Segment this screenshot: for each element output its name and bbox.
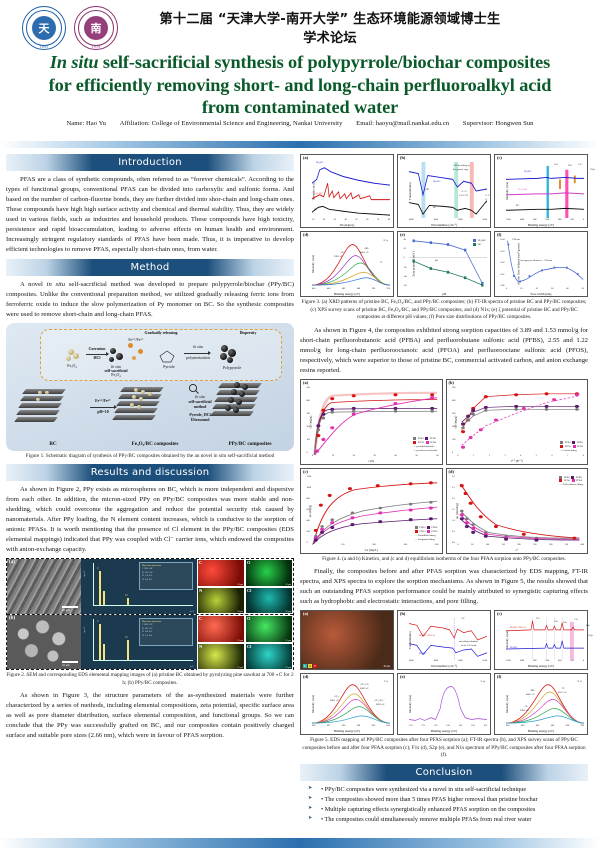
fig3c-panel-tag: (c) [497, 155, 502, 160]
figure1-caption: Figure 1. Schematic diagram of synthesis… [6, 453, 294, 461]
chart-fig3d-n1s: (d) Intensity (cps) Binding energy (eV) … [300, 231, 394, 297]
author-supervisor: Supervisor: Hongwen Sun [463, 120, 534, 127]
results-paragraph-fig5: Finally, the composites before and after… [300, 567, 588, 607]
section-header-results: Results and discussion [6, 464, 294, 481]
eds-legend-a: Map Sum Spectrum C 82.4 0.8 O 12.1 0.6 N… [139, 562, 193, 590]
figure2-row-a: (a) 20 μm C Cl cps/eV keV Map Sum Spect [7, 559, 293, 614]
schematic-arrow-corrosion [86, 354, 108, 355]
schematic-fe3o4-particle [73, 353, 79, 359]
section-header-method: Method [6, 259, 294, 276]
fig5d-panel-tag: (d) [303, 674, 308, 679]
fig5f-traces [506, 681, 584, 725]
schematic-label-corrosion: Corrosion [84, 347, 110, 352]
figure2-scalebar-a: 20 μm [62, 606, 78, 612]
poster-root: 天 1895 南 1919 第十二届 “天津大学-南开大学” 生态环境能源领域博… [0, 0, 600, 848]
figure4-row1: (a) Qt (mg/g) t (h) 0102030405060 500400… [300, 379, 588, 465]
eds-x-label-b: keV [190, 665, 194, 668]
fig5f-panel-tag: (f) [497, 674, 501, 679]
schematic-polypyrrole-sphere [228, 349, 236, 357]
fig3a-xlabel: 2θ (degree) [301, 223, 393, 227]
schematic-corroded-particle [116, 353, 123, 360]
eds-x-label-a: keV [190, 610, 194, 613]
eds-map-cl-b: Cl10 μm [245, 643, 293, 671]
schematic-bc-stack [22, 389, 92, 433]
conclusion-item-1: • PPy/BC composites were synthesized via… [308, 785, 584, 795]
fig5d-xlabel: Binding energy (eV) [301, 729, 393, 733]
logo-group: 天 1895 南 1919 [22, 6, 118, 50]
schematic-ppybc-stack [218, 383, 288, 429]
fig5e-traces [409, 681, 487, 725]
schematic-label-fe-ion: Fe³⁺/Fe²⁺ [124, 338, 148, 343]
sem-image-ppybc: (b) 10 μm [7, 615, 81, 669]
schematic-label-selfsac-3: self-sacrificial [182, 400, 218, 405]
poster-title-rest: self-sacrificial synthesis of polypyrrol… [98, 52, 550, 72]
figure3-row2: (d) Intensity (cps) Binding energy (eV) … [300, 231, 588, 297]
fig4a-yticks: 5004003002001000 [307, 387, 310, 455]
right-column: (a) Intensity (a.u.) 2θ (degree) 1020304… [300, 150, 588, 825]
fig4a-xlabel: t (h) [301, 459, 442, 463]
figure3-row1: (a) Intensity (a.u.) 2θ (degree) 1020304… [300, 154, 588, 228]
fig4d-legend: PFBA PFBS PFOA PFOS — D-R isotherm fitti… [559, 476, 583, 488]
fig3f-xticks: 01020304050 [506, 288, 584, 290]
conclusion-item-2: • The composites showed more than 5 time… [308, 795, 584, 805]
fig3f-yticks: 0.040.030.020.010.00 [501, 239, 505, 287]
poster-columns: Introduction PFAS are a class of synthet… [0, 150, 600, 825]
eds-y-label-b: cps/eV [83, 627, 86, 634]
nankai-university-logo: 南 1919 [74, 6, 118, 50]
conclusion-list-wrap: • PPy/BC composites were synthesized via… [300, 785, 588, 825]
fig4c-panel-tag: (c) [303, 469, 308, 474]
section-title-conclusion: Conclusion [416, 767, 473, 778]
tianjin-university-logo: 天 1895 [22, 6, 66, 50]
fig4b-xlabel: t¹ᐟ² (h¹ᐟ²) [447, 459, 588, 463]
fig3b-traces [409, 162, 487, 218]
figure2-panel: (a) 20 μm C Cl cps/eV keV Map Sum Spect [6, 558, 294, 670]
chart-fig3f-pore: (f) dV/dw Pore Volume (cm³/g·nm) Pore wi… [494, 231, 588, 297]
conference-title-cn-line2: 学术论坛 [120, 30, 540, 49]
method-paragraph: A novel in situ self-sacrificial method … [6, 280, 294, 320]
fig3b-xticks: 4000300020001000 [409, 219, 487, 221]
schematic-label-ultrasound: Ultrasound [178, 418, 222, 423]
fig3f-xlabel: Pore width (nm) [495, 292, 587, 296]
fig5c-panel-tag: (c) [497, 611, 502, 616]
poster-title-line2: for efficiently removing short- and long… [10, 74, 590, 96]
schematic-label-insitu-3: In situ [182, 395, 218, 400]
eds-legend-b: Map Sum Spectrum C 68.3 0.9 O 16.2 0.7 N… [139, 618, 193, 646]
conclusion-item-4: • The composites could simultaneously re… [308, 815, 584, 825]
figure2-caption: Figure 2. SEM and corresponding EDS elem… [6, 672, 294, 687]
conclusion-item-3: • Multiple capturing effects synergistic… [308, 805, 584, 815]
fig3b-xlabel: Wavenumber (cm⁻¹) [398, 223, 490, 227]
fig5d-xticks: 694692690688686684 [312, 725, 390, 727]
fig4b-yticks: 5004003002001000 [452, 387, 455, 455]
chart-fig4c-isotherm: (c) qe (mg/g) Ce (mg/L) 0150300450600 12… [300, 468, 443, 554]
chart-fig5b-ftir: (b) Transmittance Wavenumber (cm⁻¹) 4000… [397, 610, 491, 670]
schematic-label-fe3o4: Fe₃O₄ [58, 364, 86, 369]
magnifier-icon [188, 383, 200, 395]
chart-fig4a-kinetics: (a) Qt (mg/g) t (h) 0102030405060 500400… [300, 379, 443, 465]
schematic-label-hcl: HCl [84, 356, 110, 361]
schematic-fe-ion [132, 356, 136, 360]
figure5-row1: (a) C O F 10 μm (b) Transmittance Wavenu… [300, 610, 588, 670]
chart-fig5f-n1s: (f) Intensity (cps) Binding energy (eV) … [494, 673, 588, 735]
section-header-introduction: Introduction [6, 154, 294, 171]
chart-fig4d-dr: (d) qe (mmol/g) ε² 050100150200250300350… [446, 468, 589, 554]
chart-fig5c-xps: (c) Intensity (cps) Binding energy (eV) … [494, 610, 588, 670]
fig3e-panel-tag: (e) [400, 232, 405, 237]
schematic-caption-bc: BC [30, 441, 76, 447]
schematic-corroded-particle [109, 357, 114, 362]
fig4d-xticks: 050100150200250300350400 [458, 544, 585, 546]
schematic-arrow-fe [90, 407, 116, 408]
introduction-paragraph: PFAS are a class of synthetic compounds,… [6, 175, 294, 255]
fig5c-xticks: 120010008006004002000 [506, 660, 584, 662]
fig4c-yticks: 120010008006004002000 [307, 476, 312, 544]
fig4b-xticks: 012345678 [458, 455, 585, 457]
fig5c-xlabel: Binding energy (eV) [495, 664, 587, 668]
poster-title-line3: from contaminated water [10, 96, 590, 118]
chart-fig3b-ftir: (b) Transmittance Wavenumber (cm⁻¹) 4000… [397, 154, 491, 228]
fig3e-xlabel: pH [398, 292, 490, 296]
fig4a-legend: PFBA PFBS PFOA PFOS — pseudo-first-order… [413, 437, 437, 453]
fig5e-xlabel: Binding energy (eV) [398, 729, 490, 733]
eds-map-c-a: C20 μm [197, 559, 245, 587]
fig4c-legend: PFBA PFBS PFOA PFOS — Freundlich fitting… [415, 526, 438, 542]
eds-maps-b: C10 μm O10 μm N10 μm Cl10 μm [197, 615, 293, 669]
fig5e-xticks: 174172170168166164162 [409, 725, 487, 727]
eds-map-n-a: N20 μm [197, 587, 245, 615]
schematic-label-polypyrrole: Polypyrrole [211, 366, 253, 371]
fig5b-xticks: 4000300020001000 [409, 660, 487, 662]
method-text-italic: in situ [47, 281, 65, 288]
figure5-row2: (d) Intensity (cps) Binding energy (eV) … [300, 673, 588, 735]
chart-fig3e-zeta: (e) Zeta potential (mV) pH 40200-20-40-6… [397, 231, 491, 297]
schematic-corroded-particle [110, 348, 116, 354]
author-affiliation: Affiliation: College of Environmental Sc… [120, 120, 343, 127]
schematic-label-insitu-2: In situ [182, 345, 214, 350]
method-text-a: A novel [20, 281, 47, 288]
chart-fig5e-s2p: (e) Intensity (cps) Binding energy (eV) … [397, 673, 491, 735]
schematic-label-polymerization: polymerization [182, 356, 214, 361]
fig3c-xlabel: Binding energy (eV) [495, 223, 587, 227]
results-paragraph-fig2: As shown in Figure 2, PPy exists as micr… [6, 485, 294, 555]
fig4c-xlabel: Ce (mg/L) [301, 548, 442, 552]
sem-image-pristine-bc: (a) 20 μm [7, 559, 81, 614]
figure4-caption: Figure 4. (a and b) Kinetics, and (c and… [300, 556, 588, 564]
fig3a-xticks: 1020304050607080 [312, 219, 390, 221]
logo-right-year: 1919 [74, 44, 118, 49]
eds-map-c-b: C10 μm [197, 615, 245, 643]
schematic-polypyrrole-sphere [221, 345, 228, 352]
fig3b-panel-tag: (b) [400, 155, 405, 160]
fig3d-traces [312, 239, 390, 287]
fig5b-xlabel: Wavenumber (cm⁻¹) [398, 664, 490, 668]
footer-divider [0, 838, 600, 848]
pyrrole-ring-icon [158, 349, 176, 363]
fig4a-panel-tag: (a) [303, 380, 308, 385]
fig5b-panel-tag: (b) [400, 611, 405, 616]
schematic-label-releasing: Gradually releasing [126, 331, 196, 336]
fig5c-traces [506, 618, 584, 660]
figure4-row2: (c) qe (mg/g) Ce (mg/L) 0150300450600 12… [300, 468, 588, 554]
figure3-caption: Figure 3. (a) XRD patterns of pristine B… [300, 299, 588, 322]
section-header-conclusion: Conclusion [300, 764, 588, 781]
figure2-panel-b-tag: (b) [9, 616, 15, 621]
chart-fig3a-xrd: (a) Intensity (a.u.) 2θ (degree) 1020304… [300, 154, 394, 228]
schematic-caption-fe3o4bc: Fe₃O₄/BC composites [116, 441, 194, 447]
schematic-fe-ion [128, 343, 133, 348]
figure2-panel-a-tag: (a) [9, 560, 15, 565]
fig4d-panel-tag: (d) [449, 469, 454, 474]
eds-spectrum-a: C Cl cps/eV keV Map Sum Spectrum C 82.4 … [81, 559, 197, 614]
fig3d-panel-tag: (d) [303, 232, 308, 237]
poster-title-italic: In situ [50, 52, 99, 72]
chart-fig4b-intraparticle: (b) Qt (mg/g) t¹ᐟ² (h¹ᐟ²) 012345678 5004… [446, 379, 589, 465]
left-column: Introduction PFAS are a class of synthet… [6, 150, 294, 825]
schematic-fe-ion [138, 349, 143, 354]
header-divider [0, 141, 600, 148]
schematic-fe3o4bc-stack [120, 387, 190, 431]
fig3f-panel-tag: (f) [497, 232, 501, 237]
figure5-caption: Figure 5. EDS mapping of PPy/BC composit… [300, 737, 588, 760]
author-email: Email: haoyu@mail.nankai.edu.cn [356, 120, 449, 127]
eds-map-o-a: O20 μm [245, 559, 293, 587]
fig5f-xticks: 406404402400398396 [506, 725, 584, 727]
fig4c-xticks: 0150300450600 [312, 544, 439, 546]
fig3f-traces [506, 239, 584, 287]
section-title-method: Method [130, 262, 169, 273]
figure1-schematic: Gradually releasing Dispersity Fe₃O₄ Cor… [6, 323, 294, 451]
conference-title-cn-line1: 第十二届 “天津大学-南开大学” 生态环境能源领域博士生 [120, 11, 540, 30]
schematic-label-fe3o4-2: Fe₃O₄ [104, 373, 128, 378]
author-name: Name: Hao Yu [66, 120, 106, 127]
fig4d-yticks: 3.02.52.01.51.00.50.0 [452, 476, 455, 544]
conclusion-list: • PPy/BC composites were synthesized via… [300, 785, 588, 825]
fig3d-xticks: 406404402400398396 [312, 288, 390, 290]
logo-left-year: 1895 [22, 44, 66, 49]
eds-y-label-a: cps/eV [83, 571, 86, 578]
chart-fig5d-f1s: (d) Intensity (cps) Binding energy (eV) … [300, 673, 394, 735]
fig3e-legend: PPy/BC BC [473, 239, 486, 247]
poster-title: In situ self-sacrificial synthesis of po… [0, 51, 600, 118]
schematic-polypyrrole-sphere [227, 357, 233, 363]
eds-map-n-b: N10 μm [197, 643, 245, 671]
fig5a-element-chips: C O F [303, 664, 317, 668]
schematic-label-fe-ions: Fe³⁺/Fe²⁺ [86, 399, 120, 404]
fig5a-panel-tag: (a) [303, 611, 308, 616]
fig5f-xlabel: Binding energy (eV) [495, 729, 587, 733]
eds-spectrum-b: C Cl cps/eV keV Map Sum Spectrum C 68.3 … [81, 615, 197, 669]
fig3e-yticks: 40200-20-40-60 [404, 239, 407, 287]
eds-map-o-b: O10 μm [245, 615, 293, 643]
schematic-caption-ppybc: PPy/BC composites [212, 441, 288, 447]
schematic-arrow-polymerization [184, 353, 210, 354]
fig4b-legend: PFBA PFBS PFOA PFOS --- Linear fitting [560, 441, 583, 453]
eds-maps-a: C20 μm O20 μm N20 μm Cl20 μm [197, 559, 293, 614]
fig4b-panel-tag: (b) [449, 380, 454, 385]
schematic-label-pyrrole: Pyrrole [154, 365, 184, 370]
figure2-scalebar-b: 10 μm [62, 661, 78, 667]
results-paragraph-fig4: As shown in Figure 4, the composites exh… [300, 326, 588, 376]
fig3c-xticks: 120010008006004002000 [506, 219, 584, 221]
section-title-introduction: Introduction [118, 157, 182, 168]
fig4d-xlabel: ε² [447, 548, 588, 552]
fig3d-xlabel: Binding energy (eV) [301, 292, 393, 296]
author-line: Name: Hao Yu Affiliation: College of Env… [0, 120, 600, 127]
fig4a-xticks: 0102030405060 [312, 455, 439, 457]
schematic-fe3o4-particle [66, 356, 71, 361]
eds-map-cl-a: Cl20 μm [245, 587, 293, 615]
poster-header: 天 1895 南 1919 第十二届 “天津大学-南开大学” 生态环境能源领域博… [0, 0, 600, 139]
fig5a-scalebar: 10 μm [383, 665, 390, 668]
figure5a-eds-overlay: (a) C O F 10 μm [300, 610, 394, 670]
schematic-polypyrrole-sphere [220, 353, 227, 360]
results-paragraph-fig3: As shown in Figure 3, the structure para… [6, 691, 294, 741]
section-title-results: Results and discussion [91, 467, 210, 478]
fig5e-panel-tag: (e) [400, 674, 405, 679]
chart-fig3c-xps: (c) Intensity (cps) Binding energy (eV) … [494, 154, 588, 228]
fig3a-traces [312, 162, 390, 218]
fig3a-panel-tag: (a) [303, 155, 308, 160]
figure2-row-b: (b) 10 μm C Cl cps/eV keV Map Sum Spect [7, 614, 293, 669]
schematic-label-dispersity: Dispersity [218, 331, 278, 336]
poster-title-line1: In situ self-sacrificial synthesis of po… [10, 51, 590, 73]
